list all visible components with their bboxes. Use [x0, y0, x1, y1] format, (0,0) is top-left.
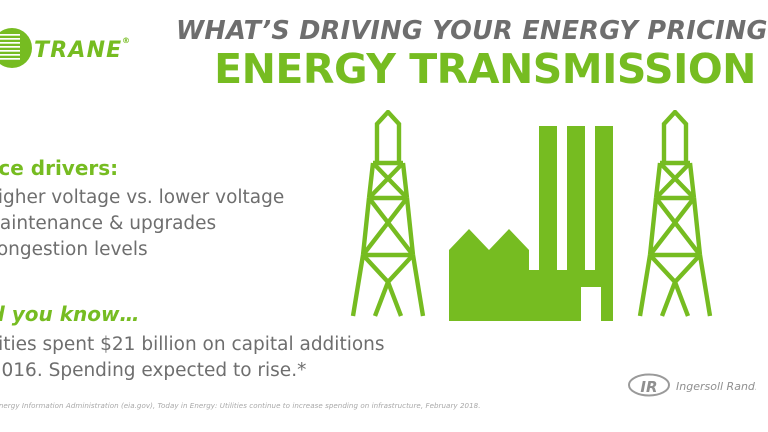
source-footnote: *U.S. Energy Information Administration … [0, 401, 481, 410]
ir-monogram-text: IR [640, 378, 657, 396]
ingersoll-rand-wordmark: Ingersoll Rand. [676, 380, 756, 393]
eyebrow-question: WHAT’S DRIVING YOUR ENERGY PRICING? [176, 18, 756, 45]
energy-transmission-illustration [345, 110, 755, 325]
trane-logo: TRANE ® [0, 26, 132, 70]
factory-icon [449, 126, 613, 321]
paragraph-line: in 2016. Spending expected to rise.* [0, 358, 447, 384]
headline-block: WHAT’S DRIVING YOUR ENERGY PRICING? ENER… [176, 18, 756, 91]
trane-wordmark: TRANE [34, 38, 122, 63]
transmission-tower-right-icon [640, 112, 710, 316]
trane-mark-icon [0, 28, 32, 68]
slide-canvas: TRANE ® WHAT’S DRIVING YOUR ENERGY PRICI… [0, 0, 768, 432]
ingersoll-rand-logo: IR Ingersoll Rand. [628, 372, 756, 398]
page-title: ENERGY TRANSMISSION [176, 47, 756, 91]
did-you-know-paragraph: Utilities spent $21 billion on capital a… [0, 332, 447, 385]
ingersoll-rand-monogram-icon: IR [629, 375, 669, 397]
transmission-tower-left-icon [353, 112, 423, 316]
trane-registered-mark: ® [122, 36, 130, 45]
paragraph-line: Utilities spent $21 billion on capital a… [0, 332, 447, 358]
